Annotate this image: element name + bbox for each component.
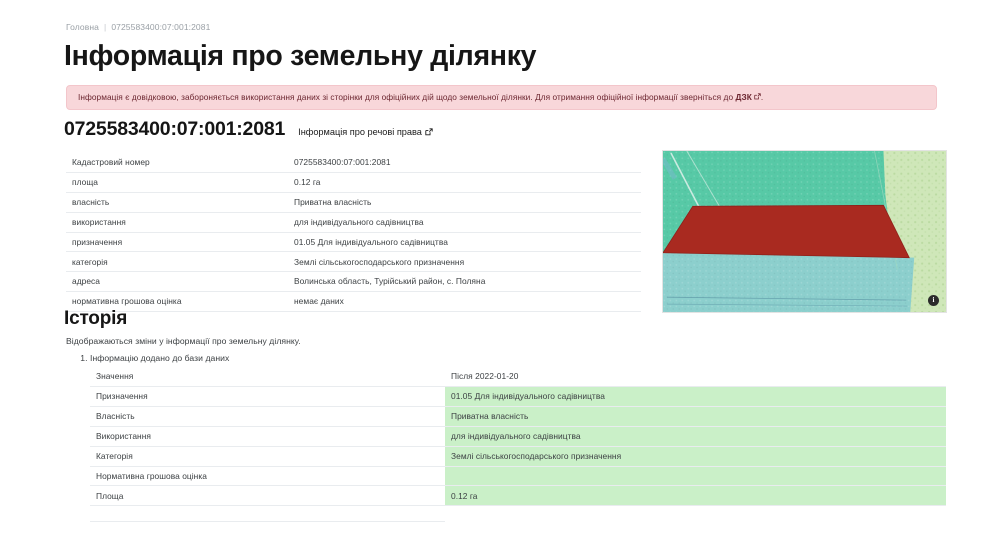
table-row: категоріяЗемлі сільськогосподарського пр…: [66, 252, 641, 272]
disclaimer-period: .: [761, 92, 763, 102]
info-row-value: Приватна власність: [288, 192, 641, 212]
table-row: КатегоріяЗемлі сільськогосподарського пр…: [90, 446, 946, 466]
info-row-value: для індивідуального садівництва: [288, 212, 641, 232]
property-rights-link-label: Інформація про речові права: [298, 127, 422, 137]
history-row-key: Власність: [90, 406, 445, 426]
cadastral-number: 0725583400:07:001:2081: [64, 120, 285, 140]
history-entry: Інформацію додано до бази данихЗначенняП…: [90, 353, 946, 522]
dzk-link[interactable]: ДЗК: [735, 92, 760, 102]
external-link-icon: [754, 93, 761, 100]
history-row-key: Площа: [90, 486, 445, 506]
history-row-key: Категорія: [90, 446, 445, 466]
history-change-table: ЗначенняПісля 2022-01-20Призначення01.05…: [90, 367, 946, 522]
info-row-value: 01.05 Для індивідуального садівництва: [288, 232, 641, 252]
info-row-key: власність: [66, 192, 288, 212]
history-row-key: Використання: [90, 426, 445, 446]
history-header-key: Значення: [90, 367, 445, 386]
history-row-value: 01.05 Для індивідуального садівництва: [445, 387, 946, 407]
disclaimer-text: Інформація є довідковою, забороняється в…: [78, 93, 763, 103]
property-rights-link[interactable]: Інформація про речові права: [298, 127, 433, 137]
history-row-key: [90, 506, 445, 522]
info-row-key: категорія: [66, 252, 288, 272]
history-row-value: Землі сільськогосподарського призначення: [445, 446, 946, 466]
page-title: Інформація про земельну ділянку: [64, 40, 536, 73]
breadcrumb-current: 0725583400:07:001:2081: [111, 22, 210, 32]
table-row: Нормативна грошова оцінка: [90, 466, 946, 486]
history-row-value: 0.12 га: [445, 486, 946, 506]
info-row-value: 0.12 га: [288, 172, 641, 192]
page-root: Головна|0725583400:07:001:2081 Інформаці…: [0, 0, 1000, 536]
history-row-key: Призначення: [90, 387, 445, 407]
history-entry-label: Інформацію додано до бази даних: [90, 353, 229, 363]
table-row: Використаннядля індивідуального садівниц…: [90, 426, 946, 446]
table-row: Призначення01.05 Для індивідуального сад…: [90, 387, 946, 407]
history-row-value: для індивідуального садівництва: [445, 426, 946, 446]
info-row-value: Землі сільськогосподарського призначення: [288, 252, 641, 272]
table-row: власністьПриватна власність: [66, 192, 641, 212]
history-row-value: [445, 506, 946, 522]
info-row-key: площа: [66, 172, 288, 192]
breadcrumb: Головна|0725583400:07:001:2081: [66, 22, 210, 32]
table-row: адресаВолинська область, Турійський райо…: [66, 272, 641, 292]
info-row-value: 0725583400:07:001:2081: [288, 153, 641, 172]
dzk-link-label: ДЗК: [735, 92, 751, 102]
history-row-value: [445, 466, 946, 486]
table-row: використаннядля індивідуального садівниц…: [66, 212, 641, 232]
parcel-map-canvas: [663, 151, 946, 312]
external-link-icon: [425, 128, 433, 136]
history-header-value: Після 2022-01-20: [445, 367, 946, 386]
history-row-value: Приватна власність: [445, 406, 946, 426]
history-subtitle: Відображаються зміни у інформації про зе…: [66, 336, 301, 346]
history-row-key: Нормативна грошова оцінка: [90, 466, 445, 486]
table-row: нормативна грошова оцінканемає даних: [66, 292, 641, 312]
info-row-key: призначення: [66, 232, 288, 252]
map-info-icon[interactable]: i: [928, 295, 939, 306]
disclaimer-banner: Інформація є довідковою, забороняється в…: [66, 85, 937, 110]
breadcrumb-separator: |: [104, 22, 106, 32]
table-row: площа0.12 га: [66, 172, 641, 192]
history-list: Інформацію додано до бази данихЗначенняП…: [66, 353, 946, 522]
breadcrumb-home-link[interactable]: Головна: [66, 22, 99, 32]
table-row: призначення01.05 Для індивідуального сад…: [66, 232, 641, 252]
history-table-header-row: ЗначенняПісля 2022-01-20: [90, 367, 946, 386]
info-row-value: Волинська область, Турійський район, с. …: [288, 272, 641, 292]
parcel-info-table: Кадастровий номер0725583400:07:001:2081п…: [66, 153, 641, 312]
parcel-map[interactable]: i: [662, 150, 947, 313]
table-row: Площа0.12 га: [90, 486, 946, 506]
info-row-value: немає даних: [288, 292, 641, 312]
info-row-key: використання: [66, 212, 288, 232]
table-row: Кадастровий номер0725583400:07:001:2081: [66, 153, 641, 172]
table-row: ВласністьПриватна власність: [90, 406, 946, 426]
cadastral-header: 0725583400:07:001:2081 Інформація про ре…: [64, 120, 433, 140]
info-row-key: Кадастровий номер: [66, 153, 288, 172]
disclaimer-body: Інформація є довідковою, забороняється в…: [78, 92, 735, 102]
history-title: Історія: [64, 308, 127, 330]
parcel-info-table-body: Кадастровий номер0725583400:07:001:2081п…: [66, 153, 641, 312]
info-row-key: адреса: [66, 272, 288, 292]
table-row: [90, 506, 946, 522]
